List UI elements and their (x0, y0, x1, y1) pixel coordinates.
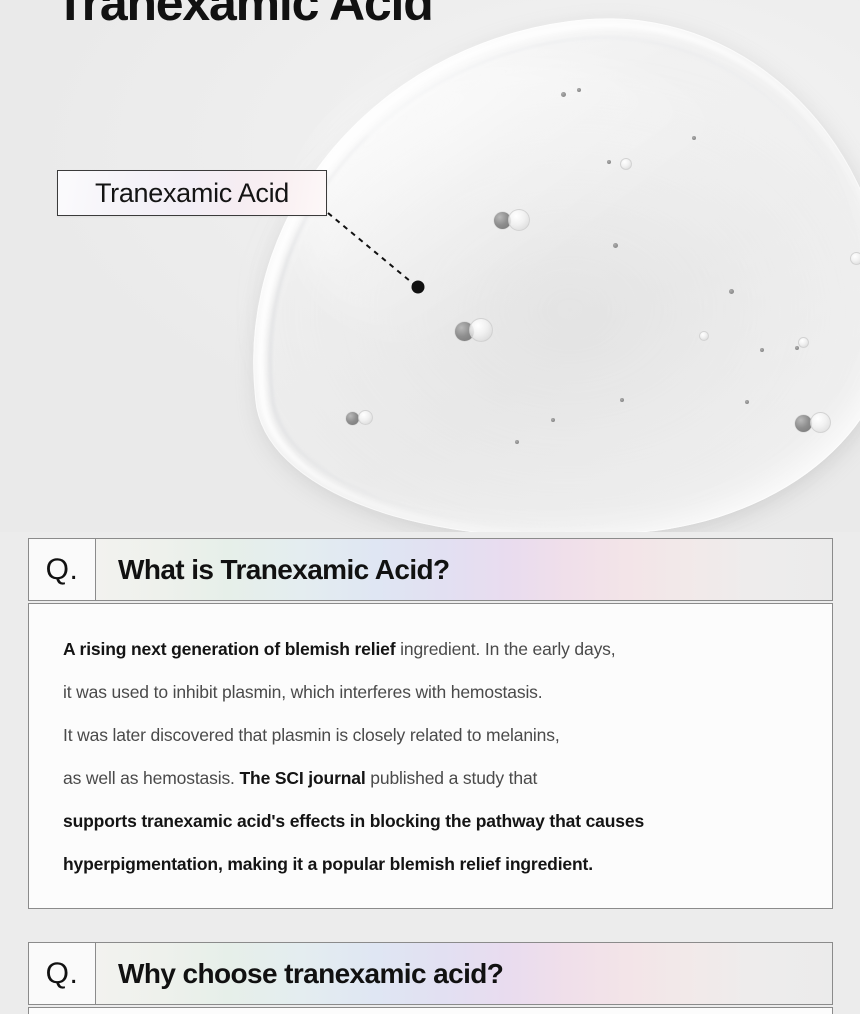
answer-text: as well as hemostasis. (63, 768, 239, 788)
bubble-clear-4 (810, 412, 831, 433)
bubble-tiny-9 (551, 418, 555, 422)
answer-text-bold: supports tranexamic acid's effects in bl… (63, 811, 644, 831)
answer-text-bold: A rising next generation of blemish reli… (63, 639, 395, 659)
answer-text: published a study that (366, 768, 538, 788)
answer-text-bold: The SCI journal (239, 768, 365, 788)
bubble-tiny-2 (577, 88, 581, 92)
question-header-1[interactable]: Q. What is Tranexamic Acid? (28, 538, 833, 601)
bubble-tiny-4 (613, 243, 618, 248)
bubble-tiny-10 (515, 440, 519, 444)
answer-card-1: A rising next generation of blemish reli… (28, 603, 833, 909)
bubble-clear-1 (508, 209, 530, 231)
answer-text-bold: hyperpigmentation, making it a popular b… (63, 854, 593, 874)
answer-line: it was used to inhibit plasmin, which in… (63, 671, 804, 714)
answer-card-2 (28, 1007, 833, 1014)
bubble-tiny-8 (745, 400, 749, 404)
bubble-tiny-11 (620, 398, 624, 402)
hero-product-image: Tranexamic Acid Tranexamic Acid (0, 0, 860, 532)
bubble-tiny-5 (729, 289, 734, 294)
callout-label-box: Tranexamic Acid (57, 170, 327, 216)
bubble-tiny-6 (760, 348, 764, 352)
question-marker-1: Q. (29, 539, 96, 600)
bubble-clear-7 (620, 158, 632, 170)
answer-line: as well as hemostasis. The SCI journal p… (63, 757, 804, 800)
page-title: Tranexamic Acid (55, 0, 433, 28)
callout-label-text: Tranexamic Acid (95, 180, 289, 207)
answer-text: It was later discovered that plasmin is … (63, 725, 560, 745)
answer-text: it was used to inhibit plasmin, which in… (63, 682, 543, 702)
bubble-tiny-3 (607, 160, 611, 164)
question-header-2[interactable]: Q. Why choose tranexamic acid? (28, 942, 833, 1005)
bubble-tiny-1 (561, 92, 566, 97)
answer-line: supports tranexamic acid's effects in bl… (63, 800, 804, 843)
gel-gloss-highlight (300, 60, 770, 360)
answer-line: It was later discovered that plasmin is … (63, 714, 804, 757)
bubble-clear-8 (850, 252, 860, 265)
question-marker-2: Q. (29, 943, 96, 1004)
bubble-clear-5 (699, 331, 709, 341)
answer-text: ingredient. In the early days, (395, 639, 615, 659)
bubble-dark-3 (346, 412, 359, 425)
bubble-clear-6 (798, 337, 809, 348)
answer-line: A rising next generation of blemish reli… (63, 628, 804, 671)
answer-body-2 (28, 1007, 833, 1014)
answer-line: hyperpigmentation, making it a popular b… (63, 843, 804, 886)
answer-body-1: A rising next generation of blemish reli… (28, 603, 833, 909)
bubble-clear-3 (358, 410, 373, 425)
question-text-1: What is Tranexamic Acid? (96, 539, 832, 600)
bubble-clear-2 (469, 318, 493, 342)
product-detail-page: Tranexamic Acid Tranexamic Acid Q. What … (0, 0, 860, 1014)
question-text-2: Why choose tranexamic acid? (96, 943, 832, 1004)
bubble-tiny-7 (795, 346, 799, 350)
qa-block-1: Q. What is Tranexamic Acid? (28, 538, 833, 601)
qa-block-2: Q. Why choose tranexamic acid? (28, 942, 833, 1005)
bubble-tiny-12 (692, 136, 696, 140)
